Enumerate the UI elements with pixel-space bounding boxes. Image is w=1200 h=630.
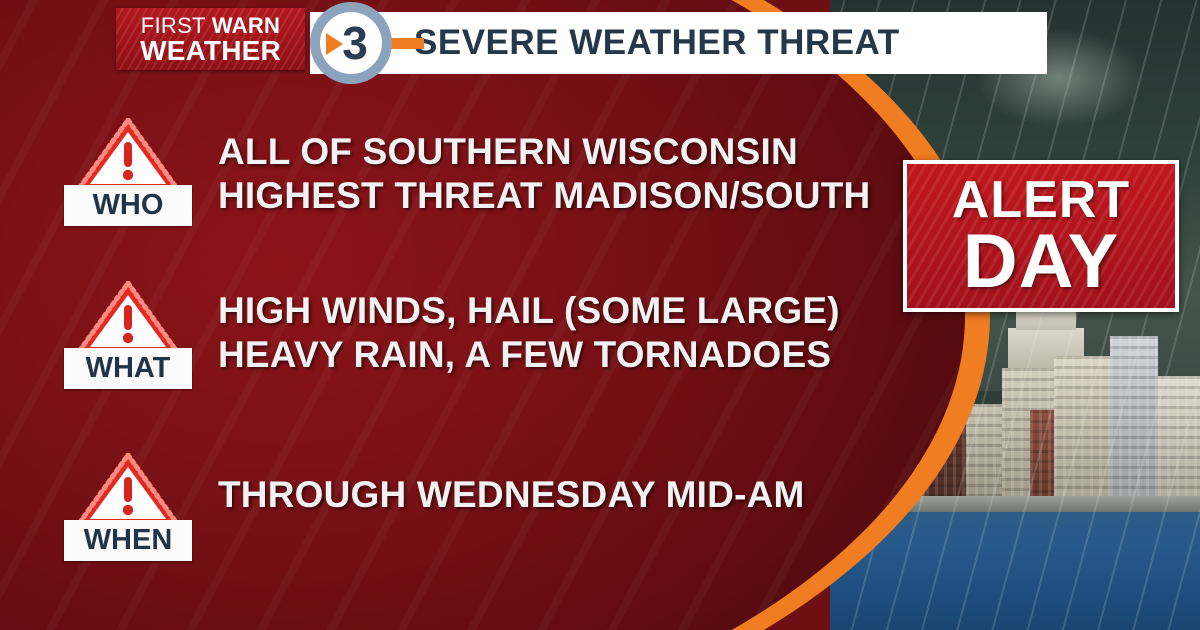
when-icon-group: WHEN <box>64 453 192 561</box>
brand-first: FIRST <box>141 13 212 38</box>
channel-3-logo: 3 <box>310 2 392 84</box>
when-line-1: THROUGH WEDNESDAY MID-AM <box>218 473 805 517</box>
weather-graphic: FIRST WARN WEATHER 3 SEVERE WEATHER THRE… <box>0 0 1200 630</box>
warning-triangle-icon <box>76 118 180 192</box>
alert-day-badge: ALERT DAY <box>903 160 1179 312</box>
channel-number: 3 <box>342 20 368 66</box>
building <box>966 404 1002 496</box>
play-triangle-icon <box>326 33 343 55</box>
building <box>1110 336 1158 496</box>
what-line-1: HIGH WINDS, HAIL (SOME LARGE) <box>218 289 840 333</box>
first-warn-weather-logo: FIRST WARN WEATHER <box>116 8 305 70</box>
building <box>1054 356 1110 496</box>
what-label: WHAT <box>64 348 192 389</box>
page-title: SEVERE WEATHER THREAT <box>414 19 900 67</box>
orange-dash <box>390 38 424 49</box>
who-icon-group: WHO <box>64 118 192 226</box>
header-bar: FIRST WARN WEATHER 3 SEVERE WEATHER THRE… <box>0 0 1200 84</box>
brand-weather: WEATHER <box>140 37 281 64</box>
warning-triangle-icon <box>76 453 180 527</box>
who-line-1: ALL OF SOUTHERN WISCONSIN <box>218 130 798 174</box>
brand-warn: WARN <box>212 13 280 38</box>
what-icon-group: WHAT <box>64 281 192 389</box>
who-label: WHO <box>64 185 192 226</box>
who-line-2: HIGHEST THREAT MADISON/SOUTH <box>218 174 870 218</box>
what-line-2: HEAVY RAIN, A FEW TORNADOES <box>218 333 831 377</box>
warning-triangle-icon <box>76 281 180 355</box>
building <box>1158 376 1200 496</box>
alert-day-line-2: DAY <box>963 226 1119 298</box>
when-label: WHEN <box>64 520 192 561</box>
